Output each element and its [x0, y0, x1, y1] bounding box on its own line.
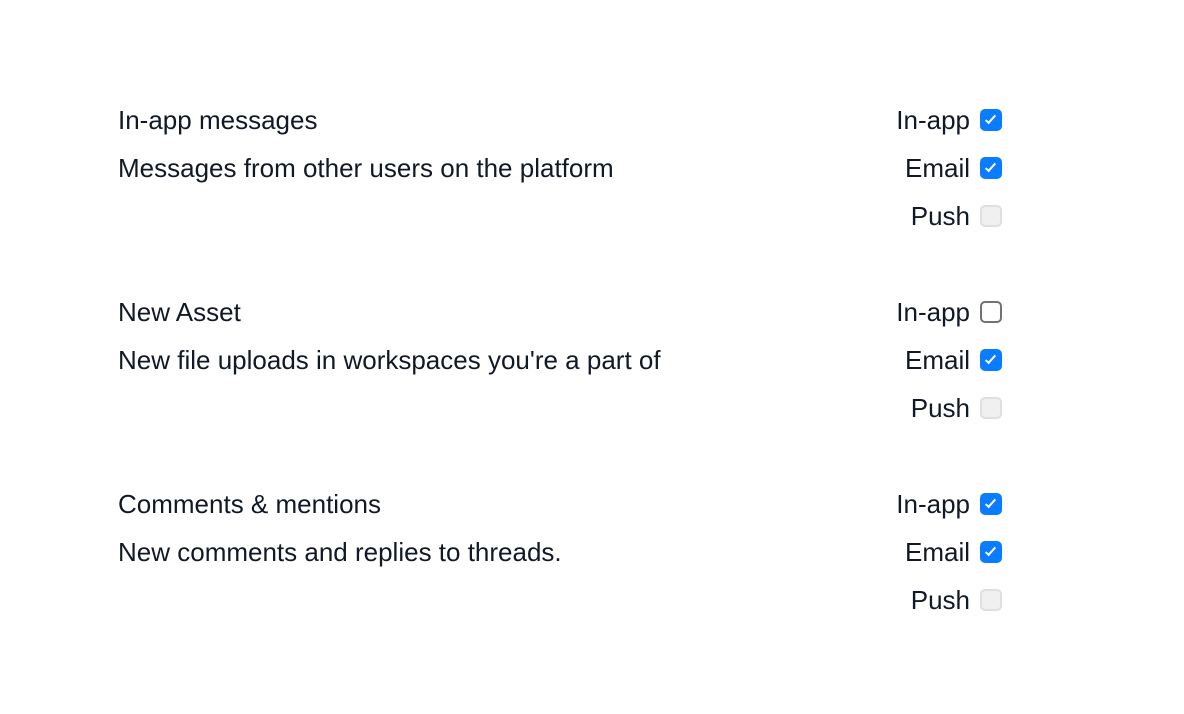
notification-preferences-panel: In-app messages Messages from other user… [118, 96, 1002, 624]
channel-row-in-app[interactable]: In-app [866, 480, 1002, 528]
checkbox-email[interactable] [980, 349, 1002, 371]
checkbox-in-app[interactable] [980, 301, 1002, 323]
channel-row-in-app[interactable]: In-app [866, 288, 1002, 336]
channel-label-email: Email [905, 144, 970, 192]
preference-info: New Asset New file uploads in workspaces… [118, 288, 842, 384]
checkbox-in-app[interactable] [980, 109, 1002, 131]
checkbox-email[interactable] [980, 157, 1002, 179]
channel-toggle-list: In-app Email Push [866, 480, 1002, 624]
channel-row-push: Push [866, 576, 1002, 624]
preference-title: New Asset [118, 288, 842, 336]
channel-row-email[interactable]: Email [866, 144, 1002, 192]
channel-label-push: Push [911, 192, 970, 240]
channel-label-push: Push [911, 576, 970, 624]
channel-label-push: Push [911, 384, 970, 432]
checkbox-push [980, 205, 1002, 227]
preference-group: In-app messages Messages from other user… [118, 96, 1002, 240]
channel-row-push: Push [866, 192, 1002, 240]
channel-row-email[interactable]: Email [866, 528, 1002, 576]
channel-row-push: Push [866, 384, 1002, 432]
channel-label-in-app: In-app [896, 288, 970, 336]
checkbox-push [980, 397, 1002, 419]
preference-title: In-app messages [118, 96, 842, 144]
checkbox-in-app[interactable] [980, 493, 1002, 515]
preference-description: Messages from other users on the platfor… [118, 144, 842, 192]
channel-label-in-app: In-app [896, 480, 970, 528]
preference-info: In-app messages Messages from other user… [118, 96, 842, 192]
checkbox-email[interactable] [980, 541, 1002, 563]
checkbox-push [980, 589, 1002, 611]
preference-description: New comments and replies to threads. [118, 528, 842, 576]
channel-label-email: Email [905, 336, 970, 384]
channel-row-email[interactable]: Email [866, 336, 1002, 384]
preference-group: Comments & mentions New comments and rep… [118, 480, 1002, 624]
channel-row-in-app[interactable]: In-app [866, 96, 1002, 144]
channel-toggle-list: In-app Email Push [866, 288, 1002, 432]
channel-label-email: Email [905, 528, 970, 576]
preference-group: New Asset New file uploads in workspaces… [118, 288, 1002, 432]
preference-title: Comments & mentions [118, 480, 842, 528]
preference-description: New file uploads in workspaces you're a … [118, 336, 842, 384]
preference-info: Comments & mentions New comments and rep… [118, 480, 842, 576]
channel-label-in-app: In-app [896, 96, 970, 144]
channel-toggle-list: In-app Email Push [866, 96, 1002, 240]
